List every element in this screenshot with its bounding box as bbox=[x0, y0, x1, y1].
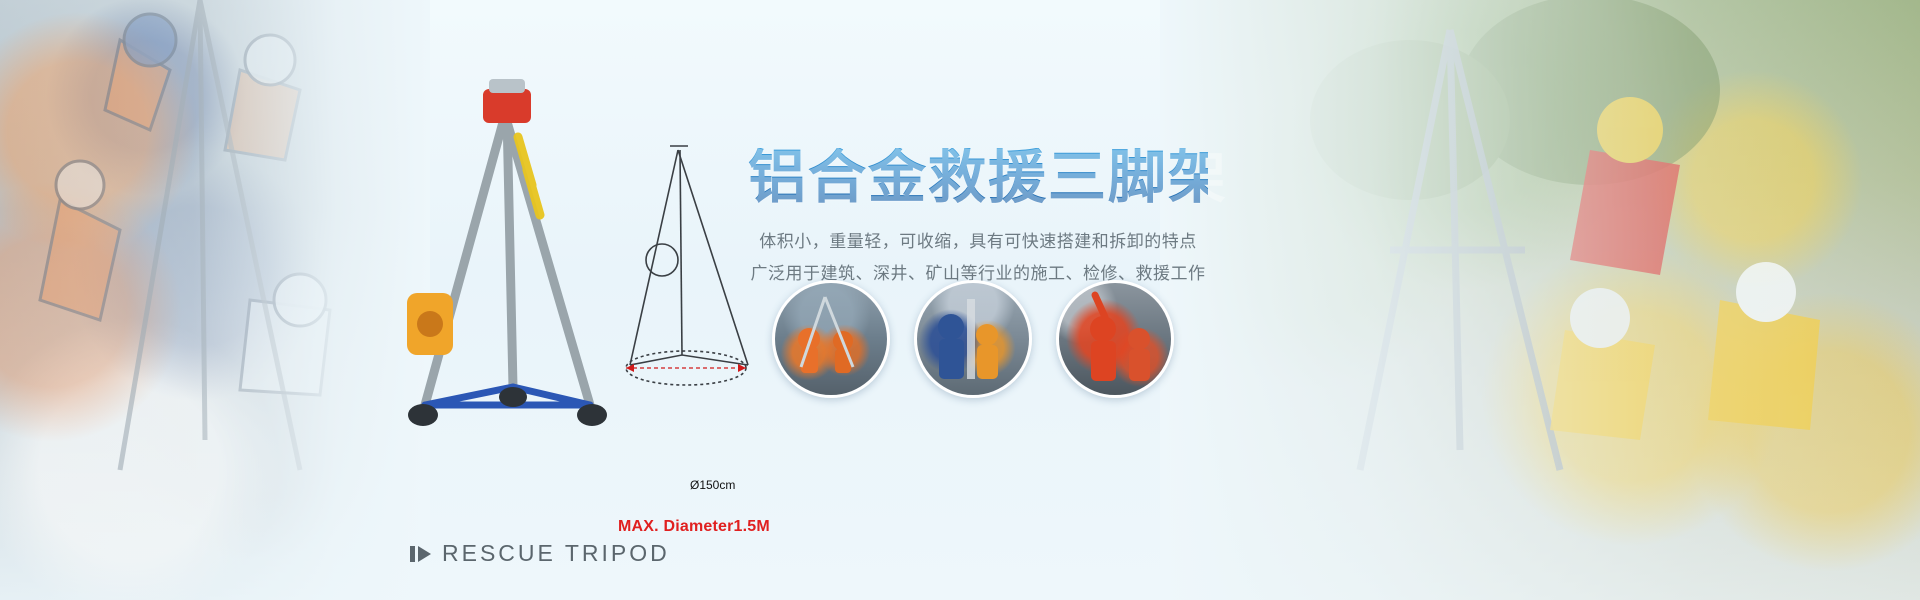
product-diagram-tripod bbox=[610, 140, 770, 410]
product-name-label: RESCUE TRIPOD bbox=[410, 540, 670, 567]
right-scene-figures bbox=[1160, 0, 1920, 600]
scene-2-figures bbox=[917, 283, 1029, 395]
play-icon bbox=[410, 545, 432, 563]
subtitle-line-1: 体积小，重量轻，可收缩，具有可快速搭建和拆卸的特点 bbox=[748, 227, 1208, 257]
background-photo-left bbox=[0, 0, 430, 600]
page-title: 铝合金救援三脚架 bbox=[748, 148, 1208, 209]
diameter-label: Ø150cm bbox=[690, 478, 735, 492]
product-banner: 铝合金救援三脚架 体积小，重量轻，可收缩，具有可快速搭建和拆卸的特点 广泛用于建… bbox=[0, 0, 1920, 600]
background-photo-right bbox=[1160, 0, 1920, 600]
thumbnail-gallery bbox=[772, 280, 1174, 398]
thumbnail-rescue-scene-3[interactable] bbox=[1056, 280, 1174, 398]
thumbnail-rescue-scene-2[interactable] bbox=[914, 280, 1032, 398]
tripod-line-diagram bbox=[610, 140, 770, 410]
scene-1-figures bbox=[775, 283, 887, 395]
banner-text-block: 铝合金救援三脚架 体积小，重量轻，可收缩，具有可快速搭建和拆卸的特点 广泛用于建… bbox=[748, 148, 1208, 289]
left-scene-figures bbox=[0, 0, 430, 600]
scene-3-figures bbox=[1059, 283, 1171, 395]
product-name-text: RESCUE TRIPOD bbox=[442, 540, 670, 567]
product-photo-tripod bbox=[385, 75, 635, 465]
thumbnail-rescue-scene-1[interactable] bbox=[772, 280, 890, 398]
max-diameter-label: MAX. Diameter1.5M bbox=[618, 518, 770, 536]
tripod-illustration bbox=[385, 75, 635, 465]
